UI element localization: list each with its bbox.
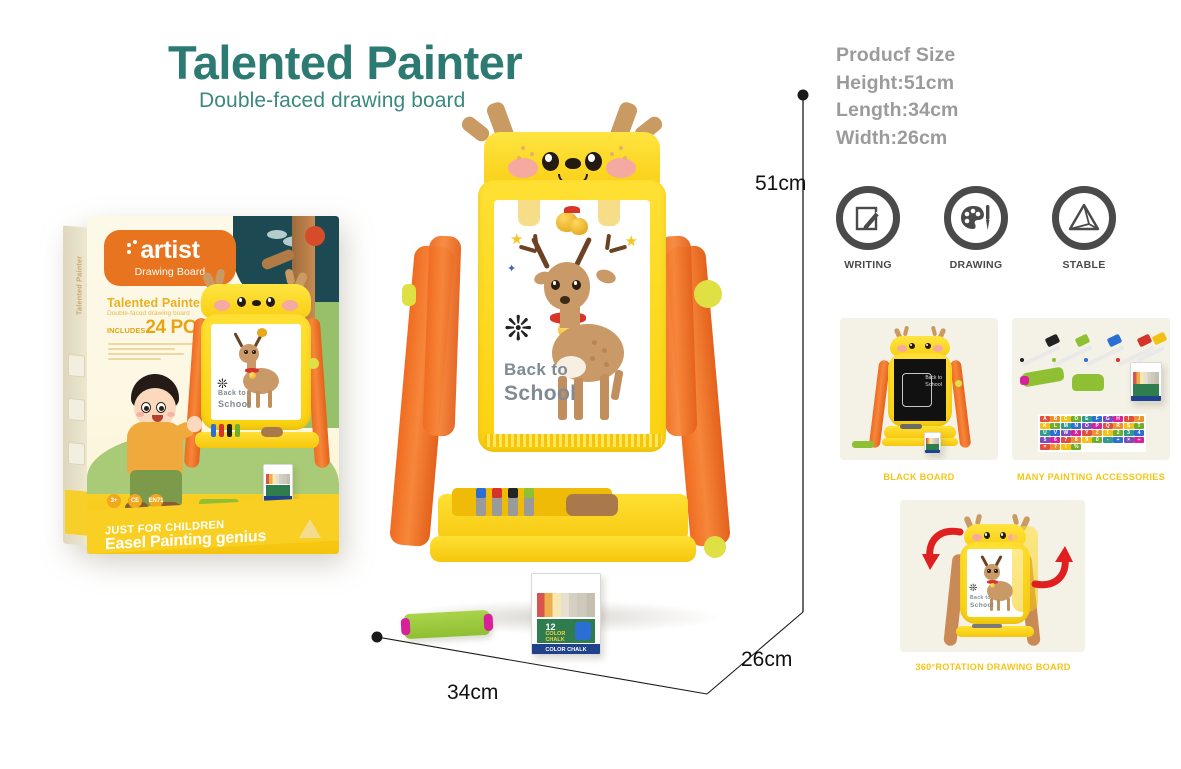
package-spine-text: Talented Painter [75,237,84,334]
package-badge: CE [128,494,142,508]
package-logo-triangle-icon [299,519,321,538]
adjust-knob-left [402,284,416,306]
alpha-tile: J [1134,416,1144,423]
alpha-tile: M [1061,423,1071,430]
hero-deer-nose [565,158,581,169]
alpha-tile: 4 [1134,430,1144,437]
alpha-tile: H [1113,416,1123,423]
alpha-tile: D [1071,416,1081,423]
rotation-board-line2: School [970,602,994,609]
dimension-label-width: 26cm [741,648,792,672]
alpha-tile: A [1040,416,1050,423]
alpha-tile: 1 [1103,430,1113,437]
package-includes-label: INCLUDES [107,326,145,335]
package-board-line2: School [218,399,250,409]
thumbnail-rotation[interactable]: ❊ Back to School [900,500,1085,652]
alpha-tile: F [1092,416,1102,423]
retail-package-box: Talented Painter artist Drawing Board Ta… [63,216,353,556]
package-seal-icon [305,226,325,246]
chalk-sub-label: CHALK [545,637,564,643]
alpha-tile: C [1061,416,1071,423]
chalk-bottom-label: COLOR CHALK [532,647,600,653]
feature-icon-row: WRITING DRAWING [836,186,1116,271]
blackboard-text-line2: School [925,382,942,388]
alpha-tile: 6 [1050,437,1060,444]
alpha-tile: 7 [1061,437,1071,444]
board-text-line1: Back to [504,360,568,380]
package-easel-illustration: ❊ Back to School [185,272,327,472]
thumbnail-blackboard-surface: Back to School [894,359,946,421]
spec-length: Length:34cm [836,97,958,125]
feature-drawing: DRAWING [944,186,1008,271]
alpha-tile: 0 [1092,437,1102,444]
alpha-tile: G [1103,416,1113,423]
alpha-tile: 5 [1040,437,1050,444]
alpha-tile: P [1092,423,1102,430]
feature-label: DRAWING [944,259,1008,271]
alpha-tile: ÷ [1134,437,1144,444]
hero-drawing-surface: ★ ★ ✦ ❊ [494,200,650,436]
snowflake-icon: ❊ [504,312,533,346]
page-title: Talented Painter [168,38,522,87]
package-front-face: artist Drawing Board Talented Painter Do… [87,216,339,554]
package-product-tagline: Double-faced drawing board [107,310,190,317]
blackboard-text-line1: Back to [925,375,942,381]
alpha-tile: S [1124,423,1134,430]
spec-width: Width:26cm [836,125,958,153]
alpha-tile: U [1040,430,1050,437]
alpha-tile: × [1124,437,1134,444]
alpha-tile: + [1113,437,1123,444]
drawing-deer-eye [572,280,581,290]
rotate-left-arrow-icon [920,524,966,576]
marker-yellow-icon [1152,332,1168,346]
thumbnail-caption-accessories: MANY PAINTING ACCESSORIES [1002,472,1180,482]
feature-label: WRITING [836,259,900,271]
alpha-tile: X [1071,430,1081,437]
rotation-board-line1: Back to [970,595,991,601]
board-text-line2: School [504,382,576,406]
leg-knob-right [704,536,726,558]
dimension-label-height: 51cm [755,172,806,196]
hero-deer-eye-left [542,152,559,171]
alpha-tile: 2 [1113,430,1123,437]
hero-deer-drawing: ★ ★ ✦ ❊ [494,200,650,436]
pyramid-icon [1052,186,1116,250]
alpha-tile: 9 [1082,437,1092,444]
package-board-line1: Back to [218,390,246,397]
alpha-tile: T [1134,423,1144,430]
alpha-tile: V [1050,430,1060,437]
thumbnail-caption-black-board: BLACK BOARD [840,472,998,482]
feature-writing: WRITING [836,186,900,271]
thumbnail-caption-rotation: 360°ROTATION DRAWING BOARD [893,662,1093,672]
spec-height: Height:51cm [836,70,958,98]
notepad-pen-icon [836,186,900,250]
product-size-spec: Producf Size Height:51cm Length:34cm Wid… [836,42,958,153]
alpha-tile: W [1061,430,1071,437]
alpha-tile: B [1050,416,1060,423]
alpha-tile: L [1050,423,1060,430]
adjust-knob-right [694,280,722,308]
chalk-box-icon [1130,362,1162,402]
thumbnail-black-board[interactable]: Back to School [840,318,998,460]
alpha-tile: N [1071,423,1081,430]
package-spine: Talented Painter [63,225,90,546]
alpha-tile: - [1103,437,1113,444]
feature-stable: STABLE [1052,186,1116,271]
alpha-tile: Y [1082,430,1092,437]
alpha-tile: I [1124,416,1134,423]
marker-red-icon [1137,334,1153,348]
eraser-icon [1072,374,1104,391]
alpha-tile: Q [1103,423,1113,430]
package-chalk-box [263,464,293,502]
alpha-tile: E [1082,416,1092,423]
rotate-right-arrow-icon [1029,540,1075,592]
alpha-tile: ? [1050,444,1060,451]
hero-easel-product: ★ ★ ✦ ❊ [380,96,740,656]
package-child-illustration [121,374,197,512]
alpha-tile: 8 [1071,437,1081,444]
product-sheet-canvas: Talented Painter Double-faced drawing bo… [0,0,1181,769]
package-brand-name: artist [140,238,199,263]
palette-brush-icon [944,186,1008,250]
package-badge: 3+ [107,494,121,508]
spec-heading: Producf Size [836,42,958,70]
thumbnail-accessories[interactable]: A B C D E F G H I J K L M N O P Q R S T … [1012,318,1170,460]
alpha-tile: R [1113,423,1123,430]
feature-label: STABLE [1052,259,1116,271]
chalk-box-package: 12 COLOR CHALK COLOR CHALK [531,573,601,655]
alpha-tile: ! [1061,444,1071,451]
alpha-tile: O [1082,423,1092,430]
alphabet-magnet-tiles: A B C D E F G H I J K L M N O P Q R S T … [1038,414,1146,453]
hero-deer-eye-right [585,152,602,171]
alpha-tile: Z [1092,430,1102,437]
tray-eraser [566,494,618,516]
drawing-deer-eye [551,280,560,290]
alpha-tile: % [1071,444,1081,451]
alpha-tile: K [1040,423,1050,430]
alpha-tile: 3 [1124,430,1134,437]
dimension-label-length: 34cm [447,681,498,705]
package-fine-print [108,343,194,363]
alpha-tile: = [1040,444,1050,451]
green-chalk-holder [403,610,490,639]
